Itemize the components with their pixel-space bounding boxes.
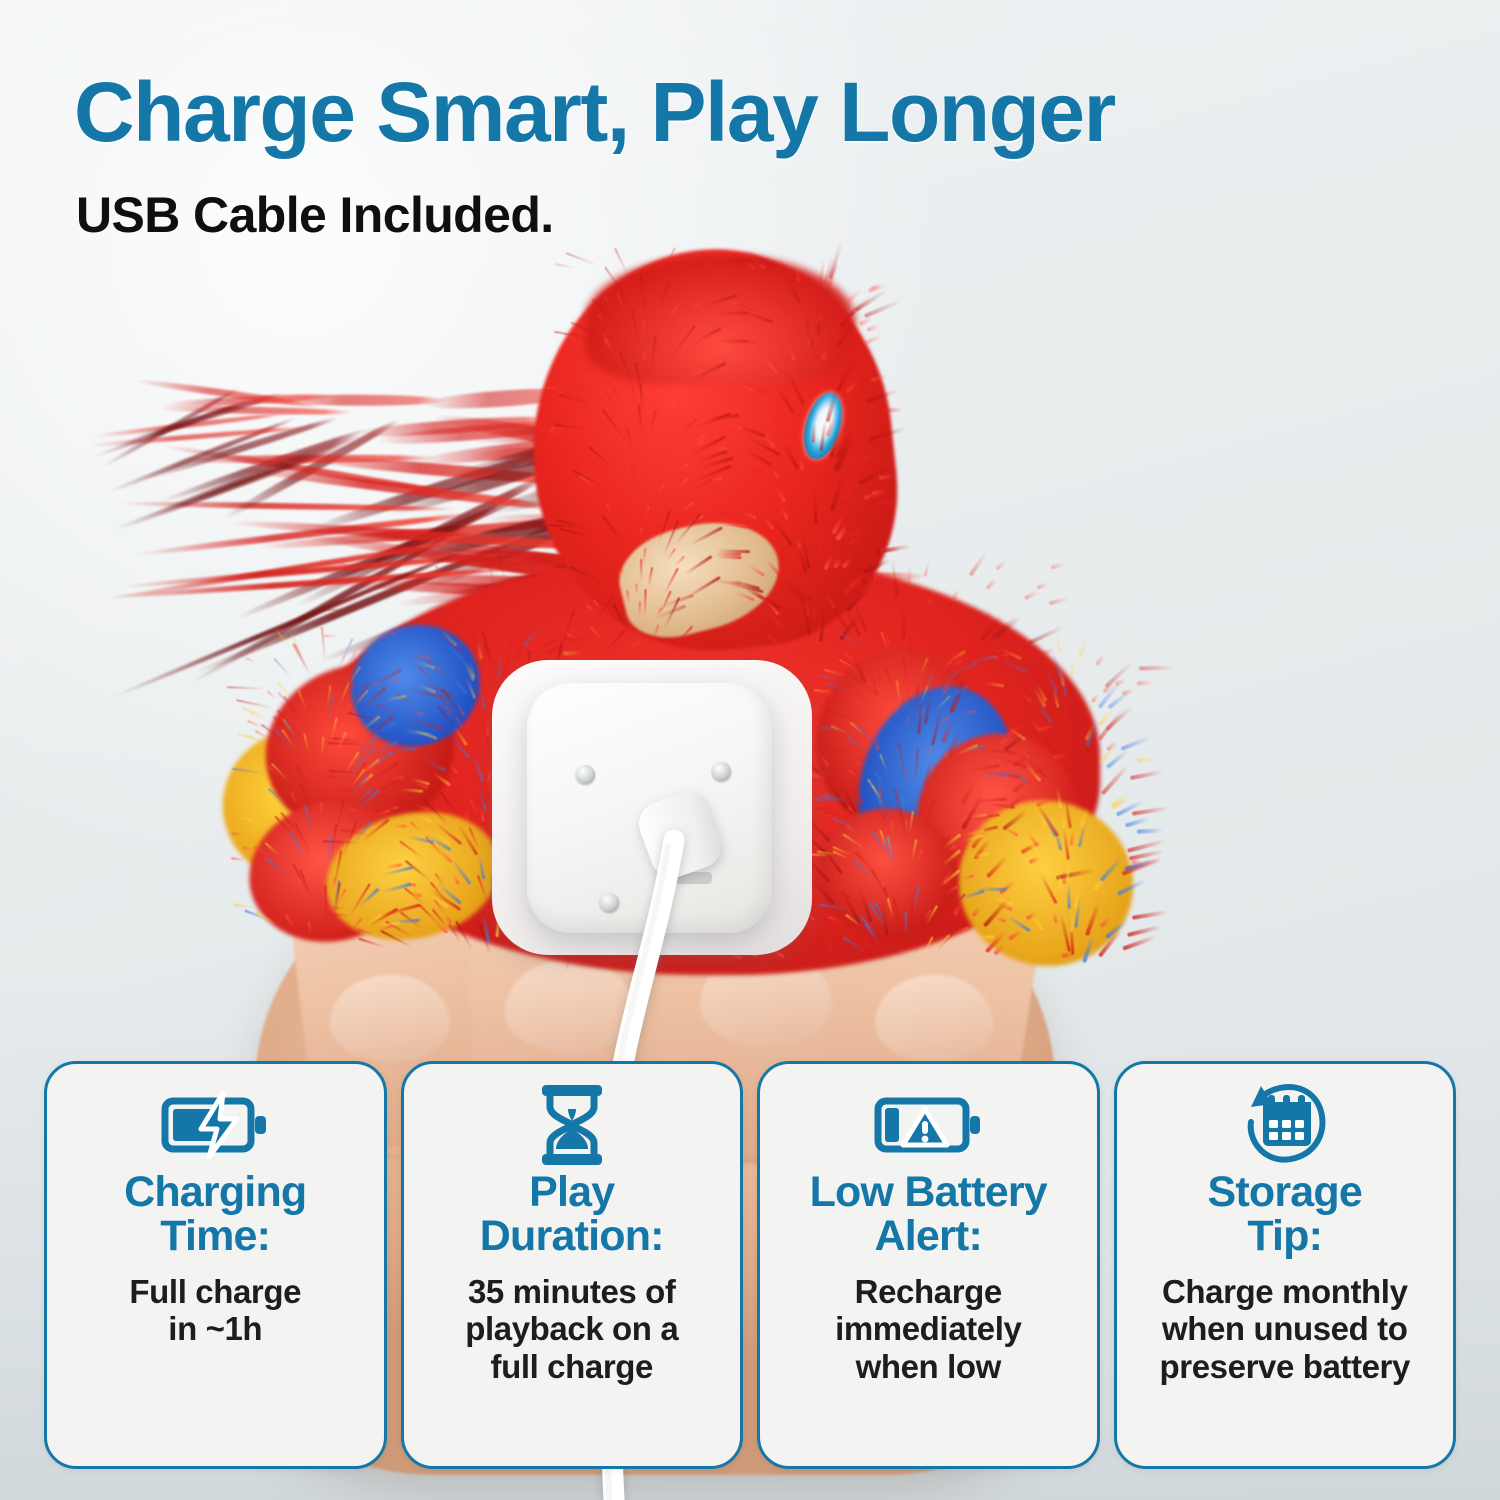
card-body: Charge monthly when unused to preserve b…: [1160, 1273, 1410, 1386]
feature-card-charging-time[interactable]: Charging Time: Full charge in ~1h: [44, 1061, 387, 1469]
screw: [712, 762, 731, 781]
card-body: 35 minutes of playback on a full charge: [465, 1273, 678, 1386]
battery-warning-icon: [874, 1086, 982, 1164]
card-title: Play Duration:: [480, 1170, 664, 1259]
card-body: Recharge immediately when low: [835, 1273, 1021, 1386]
page-subtitle: USB Cable Included.: [76, 186, 976, 244]
feature-card-storage-tip[interactable]: Storage Tip: Charge monthly when unused …: [1114, 1061, 1457, 1469]
card-title: Low Battery Alert:: [810, 1170, 1047, 1259]
card-title: Storage Tip:: [1208, 1170, 1363, 1259]
screw: [576, 765, 595, 784]
battery-charging-icon: [161, 1086, 269, 1164]
card-title: Charging Time:: [124, 1170, 306, 1259]
parrot-crest: [585, 255, 855, 385]
feature-card-row: Charging Time: Full charge in ~1h Play D…: [44, 1061, 1456, 1469]
fingernail: [330, 975, 450, 1061]
feature-card-low-battery-alert[interactable]: Low Battery Alert: Recharge immediately …: [757, 1061, 1100, 1469]
page-title: Charge Smart, Play Longer: [74, 64, 1374, 161]
feature-card-play-duration[interactable]: Play Duration: 35 minutes of playback on…: [401, 1061, 744, 1469]
fingernail: [875, 975, 993, 1061]
hourglass-icon: [532, 1086, 612, 1164]
card-body: Full charge in ~1h: [129, 1273, 301, 1348]
calendar-refresh-icon: [1239, 1086, 1331, 1164]
